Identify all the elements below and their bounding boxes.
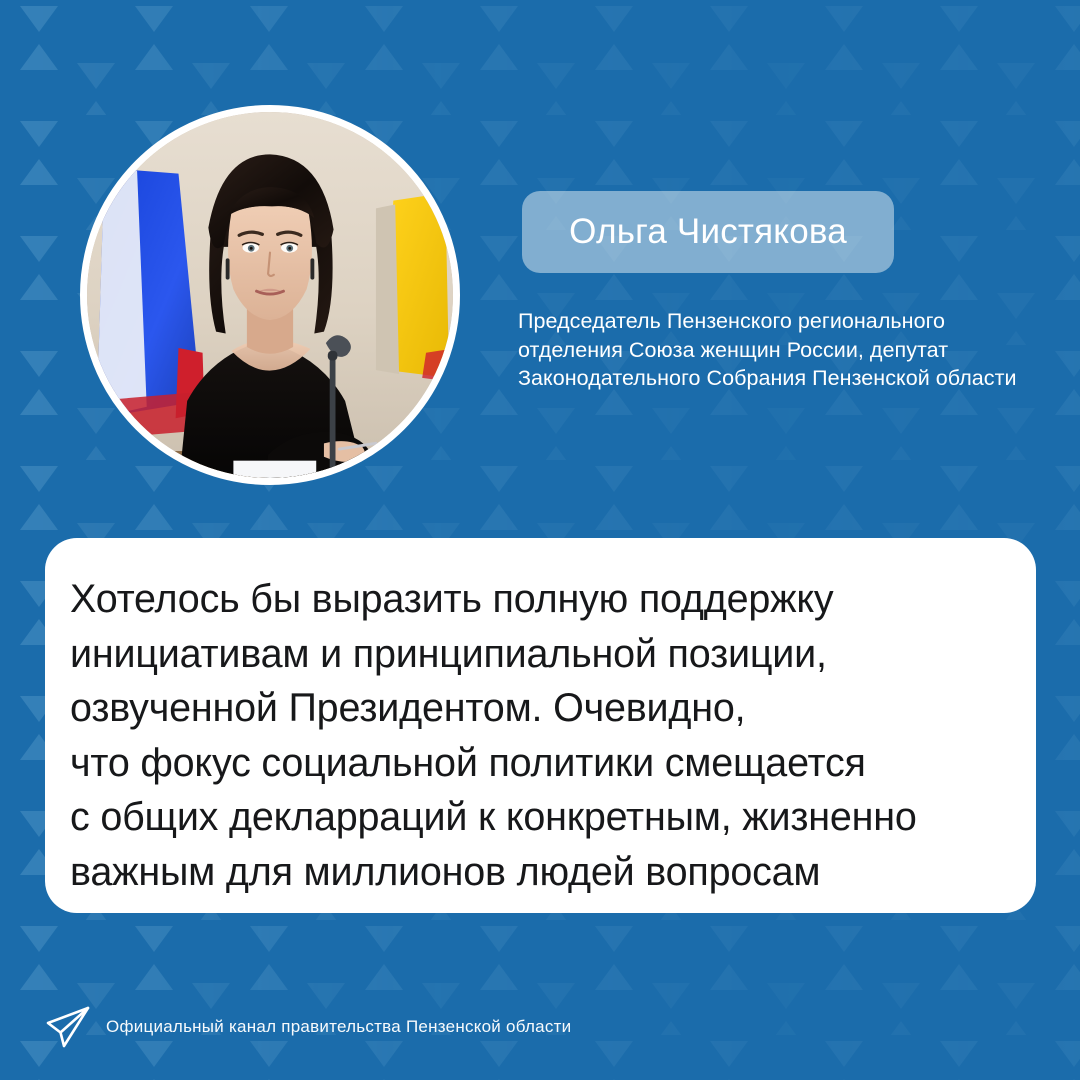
speaker-role: Председатель Пензенского регионального о…: [518, 307, 1018, 393]
avatar-photo: [87, 112, 453, 478]
avatar-ring: [80, 105, 460, 485]
avatar: [80, 105, 460, 485]
speaker-name-badge: Ольга Чистякова: [522, 191, 894, 273]
footer-label: Официальный канал правительства Пензенск…: [106, 1017, 571, 1037]
footer: Официальный канал правительства Пензенск…: [44, 999, 571, 1055]
quote-text: Хотелось бы выразить полную поддержку ин…: [70, 572, 1018, 899]
quote-card: Хотелось бы выразить полную поддержку ин…: [45, 538, 1036, 913]
telegram-paper-plane-icon: [44, 1005, 92, 1049]
speaker-name: Ольга Чистякова: [569, 212, 847, 252]
